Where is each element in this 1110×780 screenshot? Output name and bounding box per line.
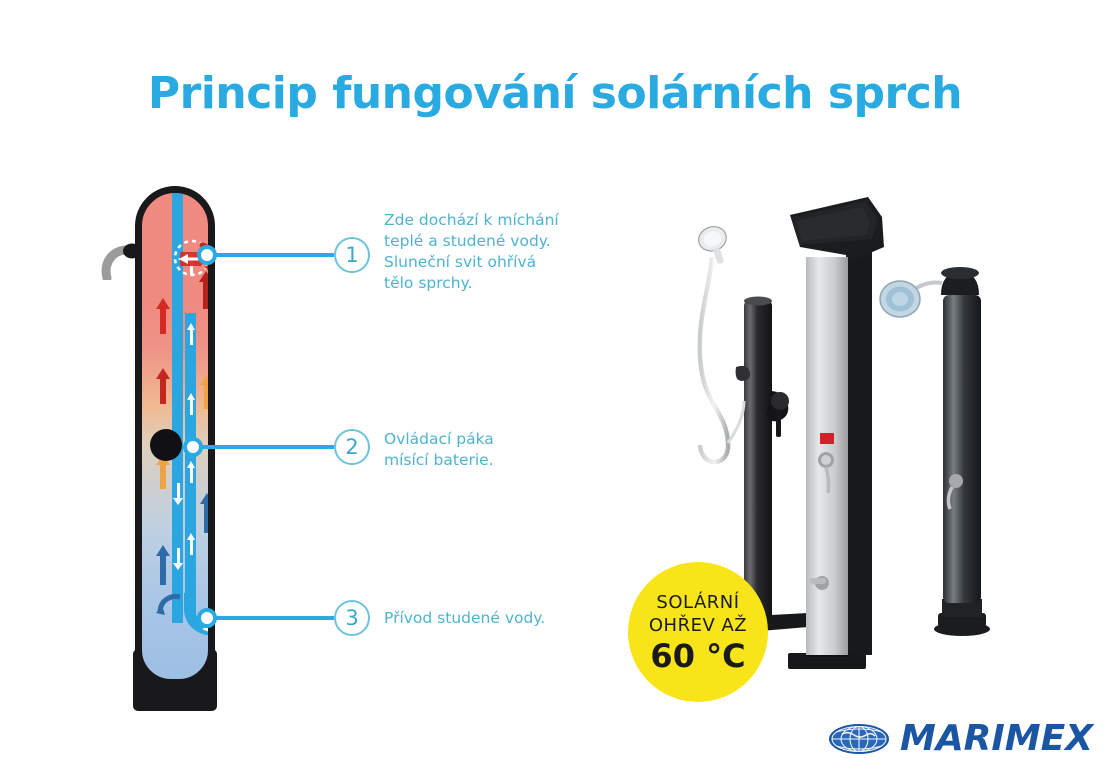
callout-text-1: Zde dochází k míchání teplé a studené vo…: [384, 210, 599, 294]
pipe-flow-arrow-down: [174, 548, 182, 570]
cold-flow-arrow: [156, 545, 170, 585]
badge-line-1: SOLÁRNÍ: [656, 591, 739, 614]
callout-text-3: Přívod studené vody.: [384, 608, 614, 629]
callout-number-1[interactable]: 1: [334, 237, 370, 273]
pipe-flow-arrow: [187, 323, 195, 345]
callout-number-2[interactable]: 2: [334, 429, 370, 465]
hot-flow-arrow: [156, 298, 170, 334]
warm-flow-arrow: [200, 375, 214, 409]
mixer-lever-dot: [150, 429, 182, 461]
hot-flow-arrow: [156, 368, 170, 404]
shower-arm-icon: [101, 238, 147, 280]
product-2-silver-square-shower: [788, 197, 884, 669]
pipe-flow-arrow-down: [174, 483, 182, 505]
globe-icon: [828, 722, 890, 756]
badge-temperature: 60 °C: [650, 638, 745, 674]
callout-line-2: [200, 445, 334, 449]
callout-text-2: Ovládací páka mísící baterie.: [384, 429, 599, 471]
callout-line-1: [214, 253, 334, 257]
recirculation-arrow-icon: [154, 585, 188, 619]
cold-flow-arrow: [200, 493, 214, 533]
brand-logo: MARIMEX: [828, 718, 1093, 759]
pipe-flow-arrow: [187, 393, 195, 415]
infographic-page: Princip fungování solárních sprch: [0, 0, 1110, 780]
product-3-dark-round-shower: [880, 267, 990, 636]
solar-heating-badge: SOLÁRNÍ OHŘEV AŽ 60 °C: [628, 562, 768, 702]
callout-line-3: [214, 616, 334, 620]
callout-number-3[interactable]: 3: [334, 600, 370, 636]
page-title: Princip fungování solárních sprch: [0, 68, 1110, 119]
badge-line-2: OHŘEV AŽ: [649, 614, 747, 637]
pipe-flow-arrow: [187, 533, 195, 555]
pipe-flow-arrow: [187, 461, 195, 483]
brand-name: MARIMEX: [900, 718, 1093, 759]
